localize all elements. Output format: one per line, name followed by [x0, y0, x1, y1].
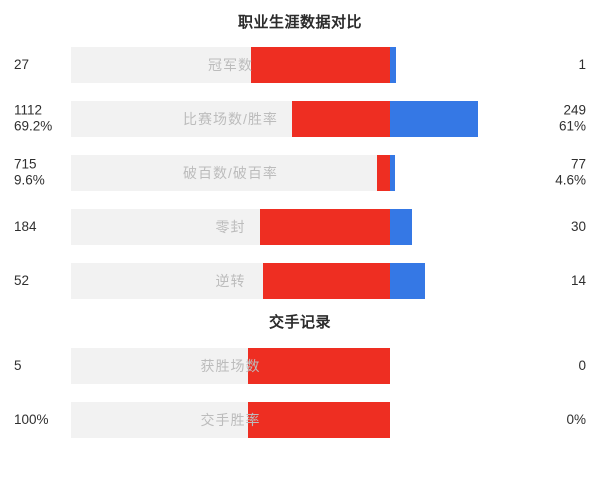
stat-bar-track: 逆转 [71, 263, 390, 299]
stat-row: 100% 交手胜率 0% [0, 402, 600, 438]
stat-right-primary: 0% [566, 412, 586, 427]
stat-bar-track: 比赛场数/胜率 [71, 101, 390, 137]
stat-bar-left-fill [248, 402, 390, 438]
stat-left-primary: 100% [14, 412, 49, 427]
stat-left-secondary: 9.6% [14, 173, 45, 189]
stat-right-value: 14 [571, 273, 586, 289]
stat-left-value: 100% [14, 412, 49, 428]
stat-bar-track: 零封 [71, 209, 390, 245]
section-title-career: 职业生涯数据对比 [0, 0, 600, 47]
stat-right-primary: 14 [571, 273, 586, 288]
stat-right-primary: 0 [578, 358, 586, 373]
stat-left-value: 27 [14, 57, 29, 73]
stat-row: 715 9.6% 破百数/破百率 77 4.6% [0, 155, 600, 191]
stat-bar-right-fill [390, 209, 412, 245]
stat-bar-track: 冠军数 [71, 47, 390, 83]
stat-row: 1112 69.2% 比赛场数/胜率 249 61% [0, 101, 600, 137]
stat-bar-left-fill [248, 348, 390, 384]
stat-left-value: 715 9.6% [14, 157, 45, 190]
stat-row: 52 逆转 14 [0, 263, 600, 299]
stat-right-value: 249 61% [559, 103, 586, 136]
stat-left-primary: 5 [14, 358, 22, 373]
section-head-to-head: 交手记录 5 获胜场数 0 100% [0, 299, 600, 438]
stat-bar-right-fill [390, 155, 395, 191]
section-title-head-to-head: 交手记录 [0, 299, 600, 348]
stat-row: 5 获胜场数 0 [0, 348, 600, 384]
stat-right-value: 77 4.6% [555, 157, 586, 190]
stat-left-value: 1112 69.2% [14, 103, 52, 136]
stat-right-secondary: 61% [559, 119, 586, 135]
stat-bar-left-fill [260, 209, 390, 245]
stat-right-primary: 1 [578, 57, 586, 72]
stat-bar-left-fill [263, 263, 390, 299]
stat-bar-left-fill [377, 155, 390, 191]
stat-right-secondary: 4.6% [555, 173, 586, 189]
stat-bar-right-fill [390, 263, 425, 299]
stat-left-primary: 27 [14, 57, 29, 72]
stat-left-primary: 52 [14, 273, 29, 288]
stat-bar-right-fill [390, 47, 396, 83]
stat-bar-right-fill [390, 101, 478, 137]
stat-bar-left-fill [251, 47, 390, 83]
stat-right-value: 0 [578, 358, 586, 374]
stat-left-secondary: 69.2% [14, 119, 52, 135]
stat-bar-track: 获胜场数 [71, 348, 390, 384]
stat-right-primary: 249 [563, 103, 586, 118]
stat-left-primary: 715 [14, 157, 37, 172]
stat-left-value: 5 [14, 358, 22, 374]
stat-right-value: 0% [566, 412, 586, 428]
stat-bar-label: 破百数/破百率 [71, 155, 390, 191]
stat-right-value: 30 [571, 219, 586, 235]
stat-left-value: 184 [14, 219, 37, 235]
section-career-stats: 职业生涯数据对比 27 冠军数 1 1112 69.2% [0, 0, 600, 299]
stat-left-primary: 184 [14, 219, 37, 234]
stats-comparison-page: 职业生涯数据对比 27 冠军数 1 1112 69.2% [0, 0, 600, 480]
stat-row: 184 零封 30 [0, 209, 600, 245]
stat-bar-track: 破百数/破百率 [71, 155, 390, 191]
stat-left-value: 52 [14, 273, 29, 289]
stat-right-primary: 77 [571, 157, 586, 172]
stat-row: 27 冠军数 1 [0, 47, 600, 83]
stat-left-primary: 1112 [14, 103, 42, 118]
stat-right-primary: 30 [571, 219, 586, 234]
stat-right-value: 1 [578, 57, 586, 73]
stat-bar-track: 交手胜率 [71, 402, 390, 438]
stat-bar-left-fill [292, 101, 390, 137]
